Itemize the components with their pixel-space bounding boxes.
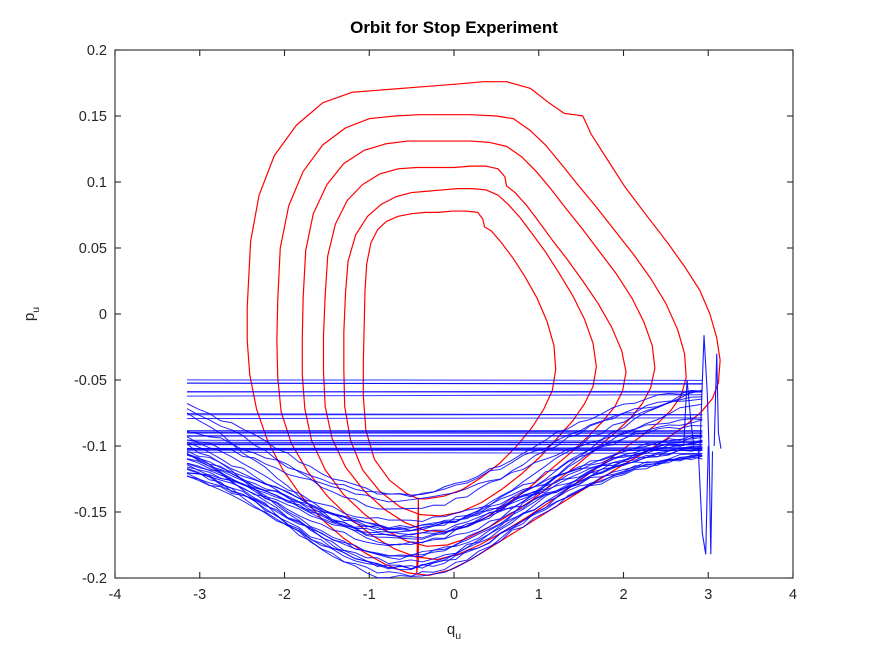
- x-tick-label: 4: [789, 587, 797, 603]
- y-tick-label: 0.05: [79, 241, 107, 257]
- x-tick-label: -1: [363, 587, 376, 603]
- y-tick-label: -0.05: [74, 373, 107, 389]
- y-axis-label-subscript: u: [30, 307, 42, 313]
- y-tick-label: 0: [99, 307, 107, 323]
- y-tick-label: 0.15: [79, 109, 107, 125]
- x-tick-label: 1: [535, 587, 543, 603]
- x-tick-label: 3: [704, 587, 712, 603]
- trajectory-return-leg: [187, 444, 702, 445]
- x-axis-label-base: q: [447, 621, 455, 638]
- y-axis-label-base: p: [21, 313, 38, 321]
- y-tick-label: 0.2: [87, 43, 107, 59]
- chart-title: Orbit for Stop Experiment: [350, 18, 558, 37]
- y-tick-label: -0.2: [82, 571, 107, 587]
- plot-svg: Orbit for Stop Experiment -4-3-2-1012340…: [0, 0, 875, 656]
- figure-canvas: Orbit for Stop Experiment -4-3-2-1012340…: [0, 0, 875, 656]
- x-tick-label: -4: [109, 587, 122, 603]
- y-tick-label: -0.1: [82, 439, 107, 455]
- x-tick-label: 0: [450, 587, 458, 603]
- x-tick-label: -3: [193, 587, 206, 603]
- x-tick-label: -2: [278, 587, 291, 603]
- trajectory-return-leg: [187, 418, 702, 419]
- x-tick-label: 2: [619, 587, 627, 603]
- y-tick-label: -0.15: [74, 505, 107, 521]
- x-axis-label-subscript: u: [455, 630, 461, 642]
- y-tick-label: 0.1: [87, 175, 107, 191]
